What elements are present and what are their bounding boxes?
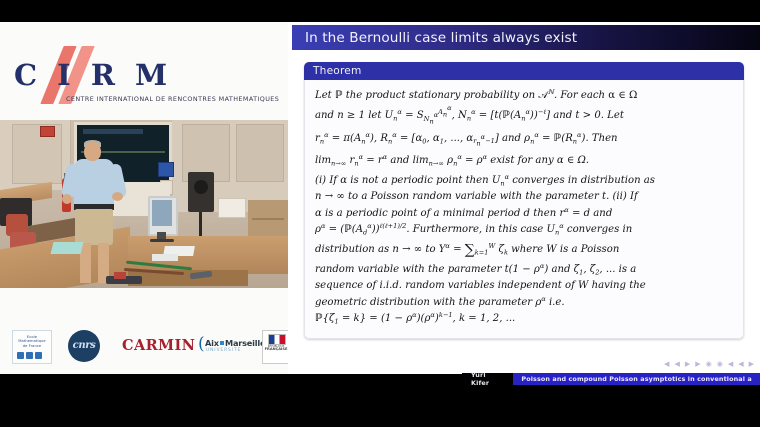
speaker-person	[74, 159, 114, 207]
aix-marseille-logo: ( Aix Marseille UNIVERSITE	[198, 330, 254, 362]
french-flag-icon	[268, 334, 286, 345]
nav-prev-icon[interactable]: ◀	[674, 360, 679, 368]
cirm-logo-area: C I R M CENTRE INTERNATIONAL DE RENCONTR…	[0, 22, 288, 120]
left-video-panel: C I R M CENTRE INTERNATIONAL DE RENCONTR…	[0, 22, 288, 374]
theorem-line-9: distribution as n → ∞ to Yα = ∑k=1W ζk w…	[315, 240, 733, 260]
screenshot-root: C I R M CENTRE INTERNATIONAL DE RENCONTR…	[0, 0, 760, 427]
nav-section-icon[interactable]: ◉	[706, 360, 712, 368]
talk-info-strip: Yuri Kifer Poisson and compound Poisson …	[462, 373, 760, 385]
accessibility-sign-icon	[158, 162, 174, 177]
cirm-logo: C I R M CENTRE INTERNATIONAL DE RENCONTR…	[8, 48, 288, 112]
theorem-line-1: Let ℙ the product stationary probability…	[315, 86, 733, 102]
nav-doc-prev-icon[interactable]: ◀	[738, 360, 743, 368]
cirm-logo-subtitle: CENTRE INTERNATIONAL DE RENCONTRES MATHE…	[66, 95, 279, 103]
theorem-line-5: (i) If α is not a periodic point then Un…	[315, 171, 733, 191]
theorem-body: Let ℙ the product stationary probability…	[304, 80, 744, 339]
theorem-line-4: limn→∞ rnα = rα and limn→∞ ρnα = ρα exis…	[315, 151, 733, 171]
ecole-mathematique-logo: EcoleMathematiquede France	[12, 330, 52, 364]
sponsor-logos-area: EcoleMathematiquede France cnrs CARMIN (…	[0, 288, 288, 374]
top-letterbox	[0, 0, 760, 22]
talk-title: Poisson and compound Poisson asymptotics…	[513, 373, 760, 385]
speaker-name: Yuri Kifer	[462, 373, 513, 385]
theorem-line-11: sequence of i.i.d. random variables inde…	[315, 279, 733, 292]
nav-subsection-icon[interactable]: ◉	[717, 360, 723, 368]
theorem-line-6: n → ∞ to a Poisson random variable with …	[315, 190, 733, 203]
theorem-line-12: geometric distribution with the paramete…	[315, 293, 733, 309]
theorem-line-7: α is a periodic point of a minimal perio…	[315, 204, 733, 220]
nav-back-icon[interactable]: ▶	[685, 360, 690, 368]
slide-title: In the Bernoulli case limits always exis…	[305, 30, 577, 46]
slide-title-bar: In the Bernoulli case limits always exis…	[292, 25, 760, 50]
nav-first-icon[interactable]: ◀	[664, 360, 669, 368]
exit-sign-icon	[40, 126, 55, 137]
theorem-line-3: rnα = π(Anα), Rnα = [α0, α1, ..., αrnα−1…	[315, 129, 733, 151]
lecture-room-video-frame	[0, 120, 288, 288]
bottom-status-bar: Yuri Kifer Poisson and compound Poisson …	[0, 374, 760, 427]
theorem-line-8: ρα = (ℙ(Adα))ℓ(ℓ+1)/2. Furthermore, in t…	[315, 220, 733, 240]
cirm-logo-letters: C I R M	[14, 58, 172, 92]
presentation-slide: In the Bernoulli case limits always exis…	[288, 22, 760, 374]
theorem-line-10: random variable with the parameter t(1 −…	[315, 260, 733, 280]
cnrs-logo: cnrs	[68, 330, 100, 362]
theorem-block: Theorem Let ℙ the product stationary pro…	[304, 62, 744, 339]
theorem-line-13: ℙ{ζ1 = k} = (1 − ρα)(ρα)k−1, k = 1, 2, .…	[315, 309, 733, 329]
nav-doc-start-icon[interactable]: ◀	[728, 360, 733, 368]
republique-francaise-logo: RÉPUBLIQUEFRANÇAISE	[262, 330, 288, 364]
theorem-header: Theorem	[304, 62, 744, 80]
nav-forward-icon[interactable]: ▶	[695, 360, 700, 368]
nav-doc-end-icon[interactable]: ▶	[749, 360, 754, 368]
loudspeaker-icon	[188, 172, 214, 212]
beamer-navigation-icons[interactable]: ◀ ◀ ▶ ▶ ◉ ◉ ◀ ◀ ▶	[664, 359, 754, 368]
carmin-logo: CARMIN	[122, 330, 184, 362]
theorem-line-2: and n ≥ 1 let Unα = SNnαAnα, Nnα = [t(ℙ(…	[315, 102, 733, 128]
monitor-icon	[148, 196, 178, 236]
